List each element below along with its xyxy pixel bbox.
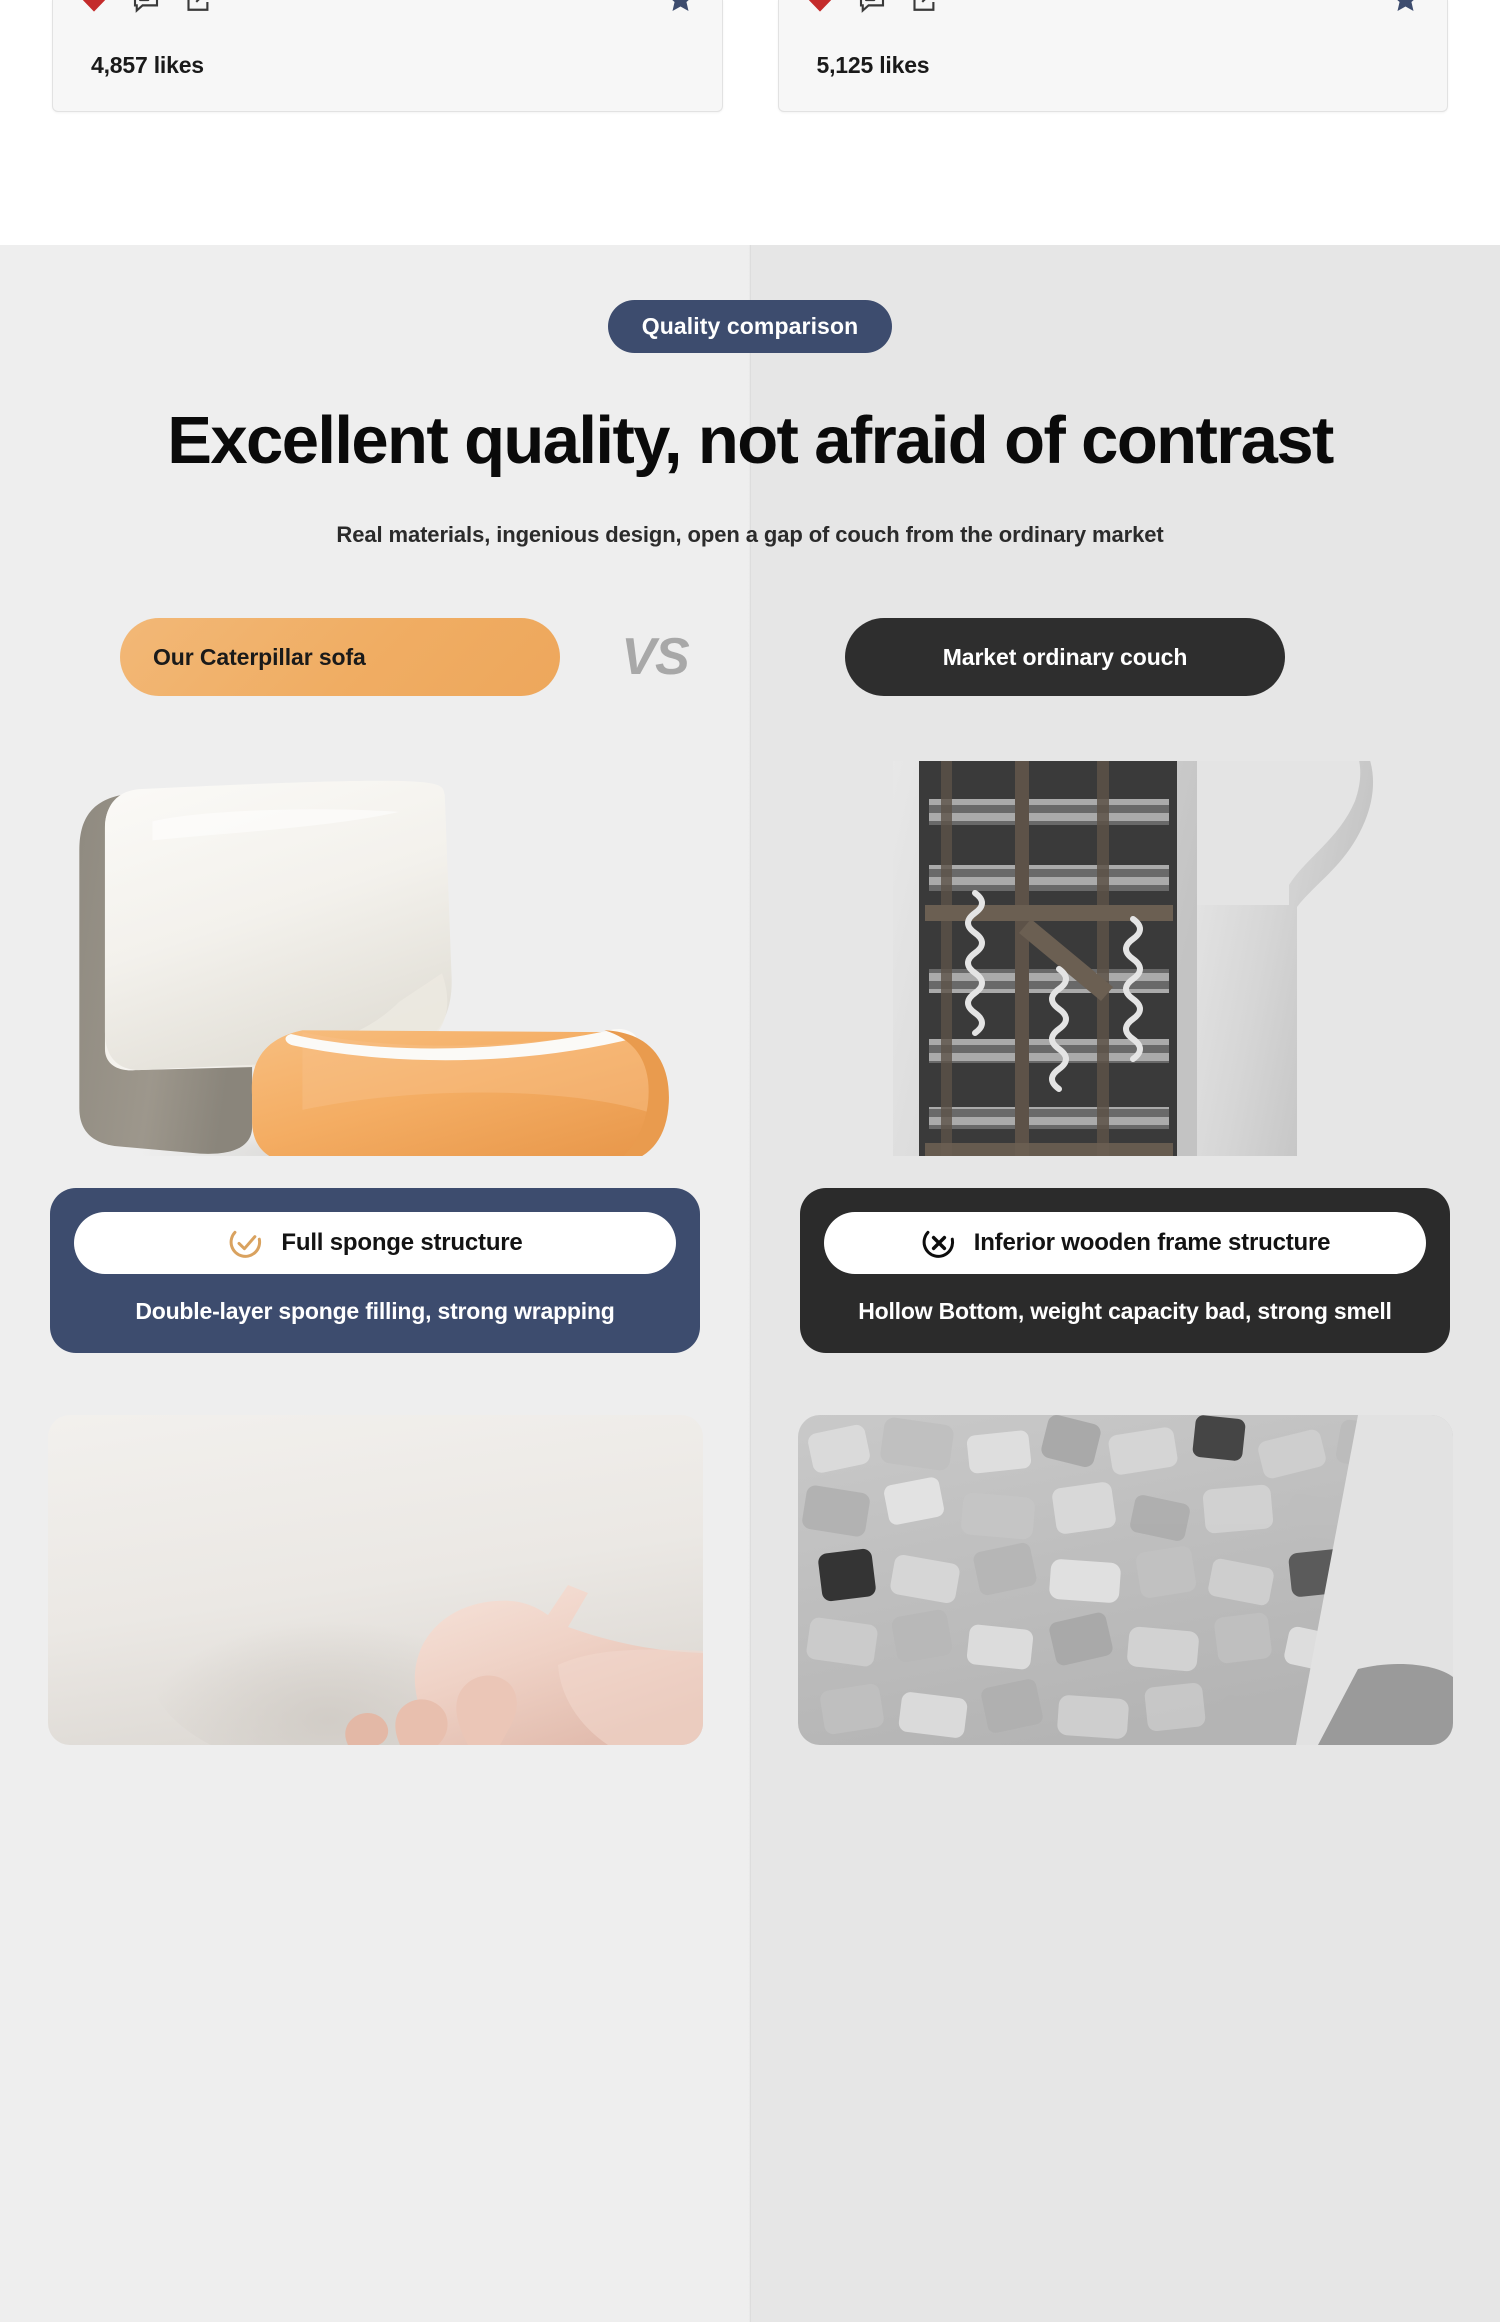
x-circle-icon — [920, 1224, 958, 1262]
quality-comparison-badge: Quality comparison — [608, 300, 893, 353]
versus-row: Our Caterpillar sofa VS Market ordinary … — [0, 618, 1500, 696]
page-subtitle: Real materials, ingenious design, open a… — [0, 522, 1500, 548]
card-action-group — [79, 0, 213, 15]
likes-count: 4,857 likes — [91, 52, 204, 79]
caterpillar-sofa-illustration — [48, 761, 703, 1156]
our-feature-card: Full sponge structure Double-layer spong… — [50, 1188, 700, 1352]
social-card: 4,857 likes — [52, 0, 723, 112]
hand-pressing-sponge-photo — [48, 1415, 703, 1745]
shredded-foam-scrap-photo — [798, 1415, 1453, 1745]
market-feature-title: Inferior wooden frame structure — [974, 1228, 1331, 1258]
heart-icon[interactable] — [805, 0, 835, 15]
social-card: 5,125 likes — [778, 0, 1449, 112]
market-product-column: Inferior wooden frame structure Hollow B… — [750, 761, 1500, 1352]
market-texture-column — [750, 1415, 1500, 1745]
texture-comparison-row — [0, 1415, 1500, 1745]
heart-icon[interactable] — [79, 0, 109, 15]
share-icon[interactable] — [909, 0, 939, 15]
comment-icon[interactable] — [131, 0, 161, 15]
card-action-group — [805, 0, 939, 15]
check-circle-icon — [227, 1224, 265, 1262]
card-action-bar — [779, 0, 1448, 22]
product-comparison-page: 4,857 likes — [0, 0, 1500, 2322]
page-title: Excellent quality, not afraid of contras… — [0, 405, 1500, 477]
our-feature-title: Full sponge structure — [281, 1228, 522, 1258]
share-icon[interactable] — [183, 0, 213, 15]
wooden-frame-couch-illustration — [845, 761, 1405, 1156]
market-feature-pill: Inferior wooden frame structure — [824, 1212, 1426, 1274]
market-product-photo — [798, 761, 1453, 1156]
card-action-group-right — [1390, 0, 1421, 16]
comment-icon[interactable] — [857, 0, 887, 15]
market-feature-card: Inferior wooden frame structure Hollow B… — [800, 1188, 1450, 1352]
bookmark-star-icon[interactable] — [665, 0, 696, 16]
card-action-group-right — [665, 0, 696, 16]
our-feature-pill: Full sponge structure — [74, 1212, 676, 1274]
our-texture-column — [0, 1415, 750, 1745]
our-product-pill: Our Caterpillar sofa — [120, 618, 560, 696]
versus-label: VS — [560, 627, 750, 687]
section-badge-wrap: Quality comparison — [0, 300, 1500, 353]
market-product-pill: Market ordinary couch — [845, 618, 1285, 696]
social-cards-strip: 4,857 likes — [0, 0, 1500, 245]
bookmark-star-icon[interactable] — [1390, 0, 1421, 16]
card-action-bar — [53, 0, 722, 22]
product-comparison-row: Full sponge structure Double-layer spong… — [0, 761, 1500, 1352]
our-product-photo — [48, 761, 703, 1156]
our-product-column: Full sponge structure Double-layer spong… — [0, 761, 750, 1352]
quality-comparison-section: Quality comparison Excellent quality, no… — [0, 245, 1500, 2322]
likes-count: 5,125 likes — [817, 52, 930, 79]
our-feature-desc: Double-layer sponge filling, strong wrap… — [125, 1296, 624, 1326]
market-feature-desc: Hollow Bottom, weight capacity bad, stro… — [848, 1296, 1402, 1326]
